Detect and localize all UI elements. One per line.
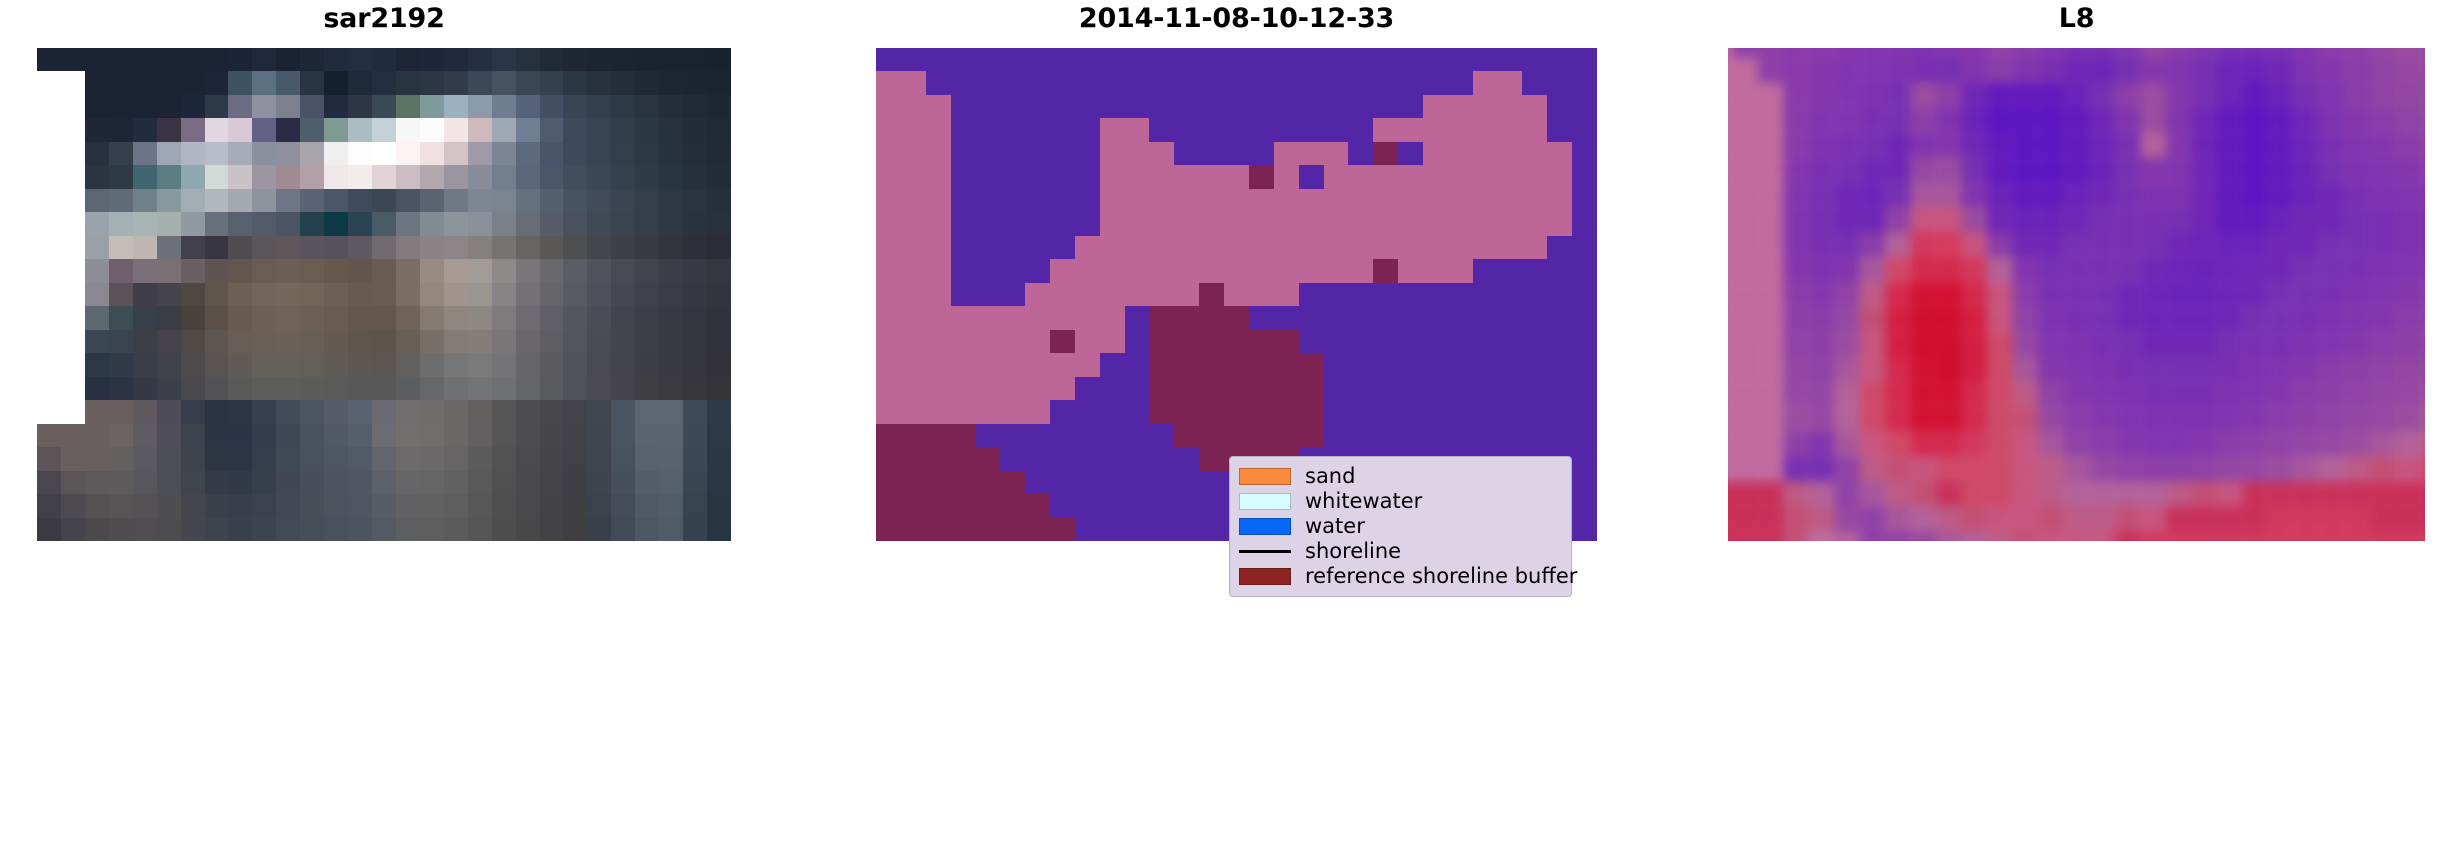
l8-pixel-cell	[1809, 257, 1834, 282]
sar-pixel-cell	[324, 48, 348, 71]
l8-pixel-cell	[2064, 183, 2089, 208]
sar-pixel-cell	[683, 95, 707, 118]
class-pixel-cell	[1025, 189, 1050, 212]
sar-pixel-cell	[611, 494, 635, 517]
l8-pixel-cell	[2038, 357, 2063, 382]
class-pixel-cell	[1224, 259, 1249, 282]
l8-pixel-cell	[1834, 257, 1859, 282]
sar-pixel-cell	[468, 118, 492, 141]
class-pixel-cell	[1000, 212, 1025, 235]
class-pixel-cell	[1448, 377, 1473, 400]
class-pixel-cell	[1125, 447, 1150, 470]
sar-pixel-cell	[683, 400, 707, 423]
class-pixel-cell	[1547, 353, 1572, 376]
class-pixel-cell	[1125, 165, 1150, 188]
l8-pixel-cell	[1733, 183, 1758, 208]
l8-pixel-cell	[2115, 48, 2140, 58]
sar-pixel-cell	[372, 400, 396, 423]
l8-pixel-cell	[1987, 506, 2012, 531]
l8-pixel-cell	[1962, 506, 1987, 531]
sar-pixel-cell	[109, 518, 133, 541]
sar-pixel-cell	[707, 306, 731, 329]
sar-pixel-cell	[516, 306, 540, 329]
class-pixel-cell	[1473, 283, 1498, 306]
l8-pixel-cell	[2166, 431, 2191, 456]
class-pixel-cell	[1224, 330, 1249, 353]
l8-pixel-cell	[2191, 48, 2216, 58]
sar-pixel-cell	[181, 518, 205, 541]
sar-pixel-cell	[659, 71, 683, 94]
class-pixel-cell	[1025, 48, 1050, 71]
sar-pixel-cell	[516, 400, 540, 423]
class-pixel-cell	[975, 95, 1000, 118]
sar-pixel-cell	[228, 424, 252, 447]
class-pixel-cell	[1000, 306, 1025, 329]
l8-pixel-cell	[1860, 481, 1885, 506]
l8-pixel-cell	[2268, 133, 2293, 158]
class-pixel-cell	[1498, 118, 1523, 141]
l8-pixel-cell	[1758, 332, 1783, 357]
sar-pixel-cell	[468, 189, 492, 212]
sar-pixel-cell	[563, 259, 587, 282]
sar-nodata-cell	[61, 118, 85, 141]
class-pixel-cell	[1448, 330, 1473, 353]
class-pixel-cell	[1075, 494, 1100, 517]
l8-pixel-cell	[2420, 158, 2425, 183]
class-pixel-cell	[975, 48, 1000, 71]
l8-pixel-cell	[2319, 48, 2344, 58]
sar-pixel-cell	[683, 165, 707, 188]
class-pixel-cell	[1174, 71, 1199, 94]
class-pixel-cell	[1423, 71, 1448, 94]
sar-pixel-cell	[252, 353, 276, 376]
sar-nodata-cell	[37, 283, 61, 306]
class-pixel-cell	[951, 118, 976, 141]
l8-pixel-cell	[2242, 481, 2267, 506]
l8-pixel-cell	[1885, 183, 1910, 208]
sar-pixel-cell	[133, 377, 157, 400]
legend-label: whitewater	[1305, 491, 1422, 512]
l8-pixel-cell	[1860, 332, 1885, 357]
class-pixel-cell	[1000, 189, 1025, 212]
sar-pixel-cell	[659, 189, 683, 212]
l8-pixel-cell	[1834, 232, 1859, 257]
sar-nodata-cell	[37, 165, 61, 188]
class-pixel-cell	[1125, 212, 1150, 235]
class-pixel-cell	[1174, 518, 1199, 541]
l8-pixel-cell	[2420, 58, 2425, 83]
class-pixel-cell	[1522, 236, 1547, 259]
class-pixel-cell	[1522, 95, 1547, 118]
l8-pixel-cell	[2038, 108, 2063, 133]
sar-pixel-cell	[611, 142, 635, 165]
l8-pixel-cell	[1758, 232, 1783, 257]
class-pixel-cell	[1448, 353, 1473, 376]
sar-pixel-cell	[85, 377, 109, 400]
sar-pixel-cell	[659, 400, 683, 423]
l8-pixel-cell	[2395, 431, 2420, 456]
class-pixel-cell	[1547, 283, 1572, 306]
sar-pixel-cell	[300, 189, 324, 212]
sar-pixel-cell	[420, 377, 444, 400]
class-pixel-cell	[926, 518, 951, 541]
sar-pixel-cell	[683, 142, 707, 165]
l8-pixel-cell	[1733, 481, 1758, 506]
sar-pixel-cell	[611, 259, 635, 282]
sar-pixel-cell	[109, 330, 133, 353]
l8-pixel-cell	[2369, 58, 2394, 83]
l8-pixel-cell	[1885, 158, 1910, 183]
sar-pixel-cell	[372, 353, 396, 376]
sar-pixel-cell	[133, 71, 157, 94]
l8-pixel-cell	[1784, 431, 1809, 456]
class-pixel-cell	[1348, 48, 1373, 71]
sar-pixel-cell	[228, 212, 252, 235]
class-pixel-cell	[1224, 283, 1249, 306]
l8-pixel-cell	[2089, 307, 2114, 332]
class-pixel-cell	[1274, 306, 1299, 329]
l8-pixel-cell	[2268, 282, 2293, 307]
sar-pixel-cell	[252, 118, 276, 141]
l8-pixel-cell	[2038, 183, 2063, 208]
l8-pixel-cell	[2268, 58, 2293, 83]
class-pixel-cell	[1100, 424, 1125, 447]
class-pixel-cell	[1000, 48, 1025, 71]
sar-pixel-cell	[157, 236, 181, 259]
sar-pixel-cell	[276, 259, 300, 282]
class-pixel-cell	[1324, 48, 1349, 71]
sar-pixel-cell	[540, 118, 564, 141]
sar-pixel-cell	[563, 71, 587, 94]
l8-pixel-cell	[2217, 48, 2242, 58]
l8-pixel-cell	[1834, 406, 1859, 431]
class-pixel-cell	[1249, 377, 1274, 400]
class-pixel-cell	[1522, 165, 1547, 188]
sar-pixel-cell	[707, 424, 731, 447]
sar-pixel-cell	[492, 142, 516, 165]
sar-pixel-cell	[444, 212, 468, 235]
sar-pixel-cell	[587, 494, 611, 517]
class-pixel-cell	[876, 189, 901, 212]
l8-pixel-cell	[2344, 382, 2369, 407]
class-pixel-cell	[1448, 142, 1473, 165]
class-pixel-cell	[926, 118, 951, 141]
class-pixel-cell	[975, 118, 1000, 141]
sar-nodata-cell	[37, 71, 61, 94]
raster-sar	[37, 48, 731, 541]
l8-pixel-cell	[1987, 83, 2012, 108]
l8-pixel-cell	[1809, 481, 1834, 506]
class-pixel-cell	[1000, 447, 1025, 470]
sar-pixel-cell	[635, 471, 659, 494]
class-pixel-cell	[1174, 400, 1199, 423]
l8-pixel-cell	[2344, 531, 2369, 541]
sar-pixel-cell	[659, 353, 683, 376]
raster-l8	[1728, 48, 2425, 541]
class-pixel-cell	[901, 189, 926, 212]
sar-pixel-cell	[492, 353, 516, 376]
class-pixel-cell	[1547, 71, 1572, 94]
sar-pixel-cell	[516, 330, 540, 353]
class-pixel-cell	[1199, 330, 1224, 353]
class-pixel-cell	[1075, 447, 1100, 470]
sar-pixel-cell	[252, 471, 276, 494]
l8-pixel-cell	[1860, 456, 1885, 481]
l8-pixel-cell	[1834, 183, 1859, 208]
sar-pixel-cell	[276, 283, 300, 306]
sar-pixel-cell	[372, 259, 396, 282]
class-pixel-cell	[1547, 400, 1572, 423]
l8-pixel-cell	[1987, 207, 2012, 232]
class-pixel-cell	[1473, 400, 1498, 423]
l8-pixel-cell	[2344, 183, 2369, 208]
class-pixel-cell	[1149, 95, 1174, 118]
class-pixel-cell	[1299, 48, 1324, 71]
class-pixel-cell	[1050, 494, 1075, 517]
l8-pixel-cell	[2242, 83, 2267, 108]
l8-pixel-cell	[1860, 158, 1885, 183]
sar-pixel-cell	[157, 377, 181, 400]
l8-pixel-cell	[2217, 431, 2242, 456]
class-pixel-cell	[1025, 212, 1050, 235]
sar-pixel-cell	[563, 95, 587, 118]
class-pixel-cell	[1547, 189, 1572, 212]
sar-pixel-cell	[683, 424, 707, 447]
l8-pixel-cell	[2089, 158, 2114, 183]
class-pixel-cell	[876, 494, 901, 517]
sar-pixel-cell	[683, 259, 707, 282]
l8-pixel-cell	[1733, 207, 1758, 232]
sar-pixel-cell	[516, 283, 540, 306]
class-pixel-cell	[1100, 71, 1125, 94]
class-pixel-cell	[1125, 259, 1150, 282]
class-pixel-cell	[1149, 330, 1174, 353]
legend-color-swatch-icon	[1239, 518, 1291, 535]
l8-pixel-cell	[2344, 108, 2369, 133]
sar-pixel-cell	[61, 48, 85, 71]
sar-pixel-cell	[516, 518, 540, 541]
l8-pixel-cell	[2217, 83, 2242, 108]
legend-row-reference: reference shoreline buffer	[1239, 564, 1562, 589]
l8-pixel-cell	[2191, 332, 2216, 357]
sar-pixel-cell	[228, 48, 252, 71]
l8-pixel-cell	[2140, 133, 2165, 158]
class-pixel-cell	[1498, 400, 1523, 423]
l8-pixel-cell	[1758, 207, 1783, 232]
class-pixel-cell	[926, 447, 951, 470]
class-pixel-cell	[1199, 494, 1224, 517]
panel-sar-image[interactable]	[37, 48, 731, 541]
sar-pixel-cell	[396, 400, 420, 423]
class-pixel-cell	[926, 259, 951, 282]
sar-pixel-cell	[157, 165, 181, 188]
class-pixel-cell	[1348, 377, 1373, 400]
sar-pixel-cell	[348, 518, 372, 541]
class-pixel-cell	[1025, 471, 1050, 494]
sar-pixel-cell	[348, 424, 372, 447]
l8-pixel-cell	[2013, 48, 2038, 58]
class-pixel-cell	[1224, 118, 1249, 141]
l8-pixel-cell	[1987, 357, 2012, 382]
class-pixel-cell	[1274, 283, 1299, 306]
class-pixel-cell	[1199, 353, 1224, 376]
sar-nodata-cell	[61, 306, 85, 329]
class-pixel-cell	[951, 306, 976, 329]
sar-pixel-cell	[563, 306, 587, 329]
class-pixel-cell	[1473, 259, 1498, 282]
class-pixel-cell	[1075, 306, 1100, 329]
sar-pixel-cell	[252, 71, 276, 94]
class-pixel-cell	[1423, 142, 1448, 165]
l8-pixel-cell	[2013, 257, 2038, 282]
class-pixel-cell	[876, 71, 901, 94]
l8-pixel-cell	[2420, 357, 2425, 382]
sar-pixel-cell	[348, 400, 372, 423]
sar-pixel-cell	[492, 518, 516, 541]
sar-pixel-cell	[109, 71, 133, 94]
sar-pixel-cell	[563, 471, 587, 494]
class-pixel-cell	[1174, 165, 1199, 188]
class-pixel-cell	[1149, 189, 1174, 212]
class-pixel-cell	[1398, 353, 1423, 376]
l8-pixel-cell	[2166, 307, 2191, 332]
sar-pixel-cell	[85, 518, 109, 541]
class-pixel-cell	[1498, 306, 1523, 329]
l8-pixel-cell	[2293, 108, 2318, 133]
class-pixel-cell	[1249, 353, 1274, 376]
l8-pixel-cell	[2369, 406, 2394, 431]
sar-pixel-cell	[85, 330, 109, 353]
class-pixel-cell	[1149, 353, 1174, 376]
sar-pixel-cell	[587, 212, 611, 235]
class-pixel-cell	[1249, 259, 1274, 282]
l8-pixel-cell	[2064, 357, 2089, 382]
raster-l8-clip	[1728, 48, 2425, 541]
l8-pixel-cell	[2369, 531, 2394, 541]
l8-pixel-cell	[2395, 183, 2420, 208]
class-pixel-cell	[1025, 353, 1050, 376]
sar-pixel-cell	[157, 306, 181, 329]
l8-pixel-cell	[2064, 456, 2089, 481]
l8-pixel-cell	[2140, 481, 2165, 506]
class-pixel-cell	[1149, 236, 1174, 259]
l8-pixel-cell	[1784, 58, 1809, 83]
class-pixel-cell	[1100, 400, 1125, 423]
l8-pixel-cell	[1962, 158, 1987, 183]
l8-pixel-cell	[2013, 332, 2038, 357]
sar-pixel-cell	[611, 424, 635, 447]
class-pixel-cell	[1572, 424, 1597, 447]
l8-pixel-cell	[2420, 506, 2425, 531]
sar-nodata-cell	[37, 236, 61, 259]
l8-pixel-cell	[2140, 406, 2165, 431]
l8-pixel-cell	[2038, 257, 2063, 282]
sar-pixel-cell	[372, 283, 396, 306]
class-pixel-cell	[901, 236, 926, 259]
l8-pixel-cell	[1987, 282, 2012, 307]
l8-pixel-cell	[1784, 257, 1809, 282]
class-pixel-cell	[951, 494, 976, 517]
sar-pixel-cell	[300, 236, 324, 259]
sar-pixel-cell	[516, 471, 540, 494]
sar-pixel-cell	[348, 95, 372, 118]
sar-pixel-cell	[468, 212, 492, 235]
l8-pixel-cell	[1860, 382, 1885, 407]
sar-pixel-cell	[540, 330, 564, 353]
l8-pixel-cell	[2140, 456, 2165, 481]
class-pixel-cell	[1224, 424, 1249, 447]
sar-pixel-cell	[372, 471, 396, 494]
class-pixel-cell	[876, 471, 901, 494]
l8-pixel-cell	[1936, 406, 1961, 431]
l8-pixel-cell	[2089, 133, 2114, 158]
sar-pixel-cell	[181, 494, 205, 517]
l8-pixel-cell	[1834, 506, 1859, 531]
class-pixel-cell	[1324, 377, 1349, 400]
sar-pixel-cell	[635, 142, 659, 165]
l8-pixel-cell	[2344, 207, 2369, 232]
sar-pixel-cell	[563, 330, 587, 353]
panel-l8-image[interactable]	[1728, 48, 2425, 541]
l8-pixel-cell	[2038, 48, 2063, 58]
sar-pixel-cell	[587, 424, 611, 447]
l8-pixel-cell	[1809, 58, 1834, 83]
class-pixel-cell	[1274, 212, 1299, 235]
l8-pixel-cell	[1987, 232, 2012, 257]
sar-pixel-cell	[707, 165, 731, 188]
l8-pixel-cell	[1733, 257, 1758, 282]
sar-pixel-cell	[181, 471, 205, 494]
class-pixel-cell	[1149, 494, 1174, 517]
class-pixel-cell	[1423, 48, 1448, 71]
l8-pixel-cell	[2140, 232, 2165, 257]
sar-pixel-cell	[85, 142, 109, 165]
sar-pixel-cell	[157, 447, 181, 470]
sar-pixel-cell	[635, 48, 659, 71]
l8-pixel-cell	[1834, 481, 1859, 506]
class-pixel-cell	[1299, 212, 1324, 235]
class-pixel-cell	[1025, 400, 1050, 423]
l8-pixel-cell	[2089, 83, 2114, 108]
sar-pixel-cell	[587, 142, 611, 165]
sar-pixel-cell	[540, 377, 564, 400]
l8-pixel-cell	[1885, 207, 1910, 232]
l8-pixel-cell	[2395, 207, 2420, 232]
sar-pixel-cell	[252, 142, 276, 165]
l8-pixel-cell	[2420, 257, 2425, 282]
l8-pixel-cell	[2166, 332, 2191, 357]
l8-pixel-cell	[1936, 531, 1961, 541]
class-pixel-cell	[1498, 377, 1523, 400]
sar-nodata-cell	[37, 330, 61, 353]
sar-pixel-cell	[133, 306, 157, 329]
l8-pixel-cell	[2013, 183, 2038, 208]
class-pixel-cell	[1522, 189, 1547, 212]
l8-pixel-cell	[1860, 431, 1885, 456]
class-pixel-cell	[1398, 306, 1423, 329]
sar-pixel-cell	[276, 330, 300, 353]
sar-pixel-cell	[276, 518, 300, 541]
class-pixel-cell	[1075, 48, 1100, 71]
sar-pixel-cell	[228, 400, 252, 423]
class-pixel-cell	[1025, 330, 1050, 353]
sar-pixel-cell	[420, 353, 444, 376]
class-pixel-cell	[1324, 95, 1349, 118]
sar-pixel-cell	[205, 518, 229, 541]
l8-pixel-cell	[1962, 531, 1987, 541]
class-pixel-cell	[1025, 142, 1050, 165]
sar-pixel-cell	[85, 71, 109, 94]
